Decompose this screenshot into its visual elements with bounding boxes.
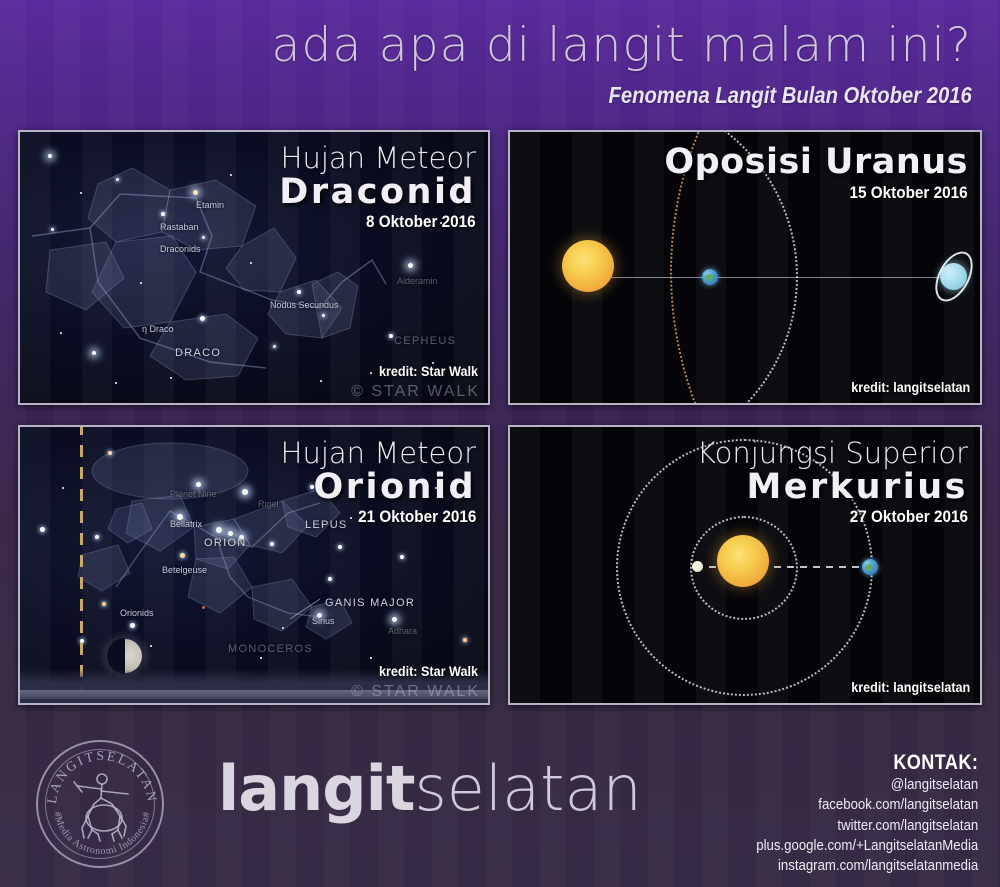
panel-title-line1: Oposisi Uranus: [664, 144, 968, 181]
panel-title-orionid: Hujan Meteor Orionid 21 Oktober 2016: [281, 439, 476, 529]
panel-credit: kredit: langitselatan: [851, 379, 970, 395]
star: [320, 380, 322, 382]
alignment-line: [606, 277, 956, 278]
star: [80, 192, 82, 194]
panel-credit: kredit: langitselatan: [851, 679, 970, 695]
star-etamin: [193, 190, 198, 195]
star: [370, 372, 372, 374]
contact-handle[interactable]: @langitselatan: [756, 775, 978, 795]
panel-date: 8 Oktober 2016: [299, 210, 476, 234]
panel-date: 21 Oktober 2016: [300, 505, 476, 529]
star-label: Draconids: [160, 244, 201, 254]
panel-title-line1: Konjungsi Superior: [697, 439, 968, 469]
starwalk-watermark: © STAR WALK: [351, 383, 480, 401]
star-eta-draco: [200, 316, 205, 321]
star: [250, 262, 252, 264]
earth-body: [862, 559, 878, 575]
logo-artwork-icon: LANGITSELATAN #Media Astronomi Indonesia…: [38, 742, 166, 870]
constellation-label: DRACO: [175, 347, 221, 359]
constellation-label: ORION: [204, 537, 247, 549]
star: [170, 377, 172, 379]
panel-title-line1: Hujan Meteor: [279, 144, 476, 174]
star: [95, 535, 99, 539]
panel-credit: kredit: Star Walk: [379, 363, 478, 379]
star-label: Nodus Secundus: [270, 300, 339, 310]
star-rastaban: [161, 212, 165, 216]
star: [92, 351, 96, 355]
panel-uranus[interactable]: Oposisi Uranus 15 Oktober 2016 kredit: l…: [508, 130, 982, 405]
panel-title-merkurius: Konjungsi Superior Merkurius 27 Oktober …: [697, 439, 968, 529]
star-label: Sirius: [312, 616, 335, 626]
sun-body: [562, 240, 614, 292]
star-label: Rigel: [258, 499, 279, 509]
moon-icon: [108, 639, 142, 673]
star: [202, 606, 205, 609]
starwalk-watermark: © STAR WALK: [351, 683, 480, 701]
star: [400, 555, 404, 559]
star: [115, 382, 117, 384]
star: [108, 451, 112, 455]
star-nodus: [297, 290, 301, 294]
star-label: Planet Nine: [170, 489, 217, 499]
contact-facebook[interactable]: facebook.com/langitselatan: [756, 795, 978, 815]
star-planet-nine: [196, 482, 201, 487]
panel-title-line1: Hujan Meteor: [281, 439, 476, 469]
star: [338, 545, 342, 549]
star: [202, 236, 205, 239]
star: [40, 527, 45, 532]
panel-orionid[interactable]: Planet Nine Rigel LEPUS Bellatrix ORION …: [18, 425, 490, 705]
star-label: Rastaban: [160, 222, 199, 232]
star: [116, 178, 119, 181]
constellation-label: MONOCEROS: [228, 643, 313, 655]
star: [270, 542, 274, 546]
ecliptic-line: [80, 425, 83, 705]
star: [370, 657, 372, 659]
star: [260, 657, 262, 659]
star-alnilam: [228, 531, 233, 536]
panel-merkurius[interactable]: Konjungsi Superior Merkurius 27 Oktober …: [508, 425, 982, 705]
langitselatan-logo[interactable]: LANGITSELATAN #Media Astronomi Indonesia…: [36, 740, 164, 868]
star-label: Alderamin: [397, 276, 438, 286]
star-label: Bellatrix: [170, 519, 202, 529]
star: [140, 282, 142, 284]
star: [102, 602, 106, 606]
star-alderamin: [408, 263, 413, 268]
star: [389, 334, 393, 338]
star: [273, 345, 276, 348]
star-alnitak: [216, 527, 222, 533]
poster-footer: LANGITSELATAN #Media Astronomi Indonesia…: [0, 722, 1000, 887]
star-rigel: [242, 489, 248, 495]
constellation-label: CEPHEUS: [394, 335, 456, 347]
star: [60, 332, 62, 334]
poster-root: ada apa di langit malam ini? Fenomena La…: [0, 0, 1000, 887]
star-adhara: [392, 617, 397, 622]
star-label: Adhara: [388, 626, 417, 636]
contact-twitter[interactable]: twitter.com/langitselatan: [756, 816, 978, 836]
panel-title-uranus: Oposisi Uranus 15 Oktober 2016: [664, 144, 968, 205]
page-title: ada apa di langit malam ini?: [272, 22, 972, 69]
star-label: Orionids: [120, 608, 154, 618]
wordmark-bold: langit: [218, 752, 415, 825]
panel-title-line2: Orionid: [281, 469, 476, 506]
star: [463, 638, 467, 642]
sun-body: [717, 535, 769, 587]
earth-body: [702, 269, 718, 285]
star-label: η Draco: [142, 324, 174, 334]
star: [62, 487, 64, 489]
panel-credit: kredit: Star Walk: [379, 663, 478, 679]
mercury-body: [692, 561, 703, 572]
panel-draconid[interactable]: Etamin Rastaban Draconids Nodus Secundus…: [18, 130, 490, 405]
star: [150, 645, 152, 647]
star: [328, 577, 332, 581]
star: [51, 228, 54, 231]
page-subtitle: Fenomena Langit Bulan Oktober 2016: [609, 84, 972, 107]
contact-instagram[interactable]: instagram.com/langitselatanmedia: [756, 856, 978, 876]
star: [130, 623, 135, 628]
contact-title: KONTAK:: [761, 750, 978, 775]
panel-title-draconid: Hujan Meteor Draconid 8 Oktober 2016: [279, 144, 476, 234]
poster-header: ada apa di langit malam ini? Fenomena La…: [0, 0, 1000, 120]
contact-block: KONTAK: @langitselatan facebook.com/lang…: [726, 750, 978, 876]
panel-date: 27 Oktober 2016: [724, 505, 968, 529]
svg-text:LANGITSELATAN: LANGITSELATAN: [44, 748, 160, 805]
wordmark: langitselatan: [218, 758, 642, 820]
star: [230, 174, 232, 176]
panel-title-line2: Draconid: [279, 174, 476, 211]
svg-text:#Media Astronomi Indonesia#: #Media Astronomi Indonesia#: [51, 811, 152, 857]
panel-title-line2: Merkurius: [697, 469, 968, 506]
star: [282, 627, 284, 629]
star: [48, 154, 52, 158]
star-label: Betelgeuse: [162, 565, 207, 575]
constellation-label: GANIS MAJOR: [325, 597, 415, 609]
contact-gplus[interactable]: plus.google.com/+LangitselatanMedia: [756, 836, 978, 856]
star: [322, 314, 325, 317]
wordmark-light: selatan: [415, 752, 642, 825]
panel-date: 15 Oktober 2016: [695, 181, 968, 205]
star-betelgeuse: [180, 553, 185, 558]
star-label: Etamin: [196, 200, 224, 210]
